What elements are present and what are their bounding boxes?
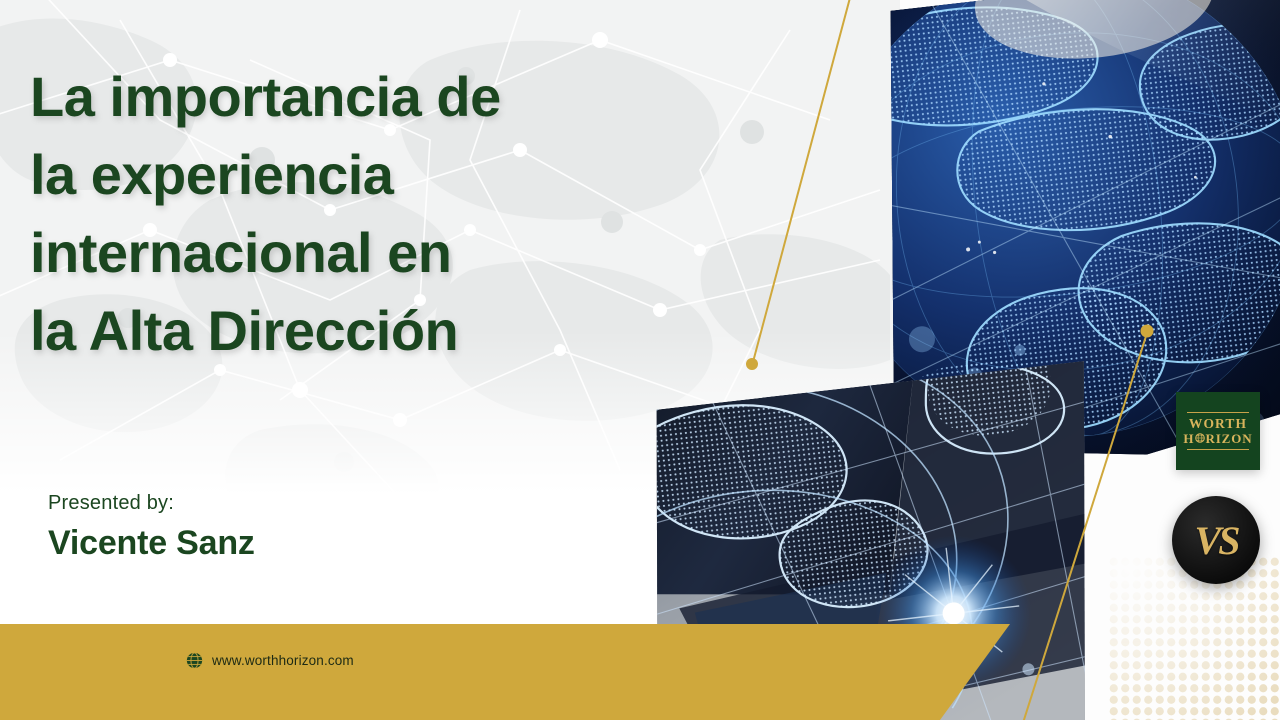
footer-website[interactable]: www.worthhorizon.com xyxy=(186,648,354,672)
globe-icon xyxy=(186,652,203,669)
logo-rule-top xyxy=(1187,412,1249,414)
logo-word-horizon: H RIZON xyxy=(1183,432,1252,445)
presenter-name: Vicente Sanz xyxy=(48,524,255,563)
halftone-dot-pattern xyxy=(1108,556,1280,720)
presentation-slide: La importancia de la experiencia interna… xyxy=(0,0,1280,720)
footer-bar xyxy=(0,624,1280,720)
logo-globe-icon xyxy=(1195,433,1205,443)
logo-word-worth: WORTH xyxy=(1183,417,1252,431)
logo-letters-rizon: RIZON xyxy=(1205,432,1252,445)
footer-url-text: www.worthhorizon.com xyxy=(212,653,354,668)
logo-letter-h: H xyxy=(1183,432,1194,445)
monogram-initials: VS xyxy=(1195,517,1238,564)
worth-horizon-logo: WORTH H RIZON xyxy=(1176,392,1260,470)
page-title: La importancia de la experiencia interna… xyxy=(30,58,740,370)
presented-by-label: Presented by: xyxy=(48,492,174,515)
vs-monogram: VS xyxy=(1172,496,1260,584)
logo-rule-bottom xyxy=(1187,449,1249,451)
